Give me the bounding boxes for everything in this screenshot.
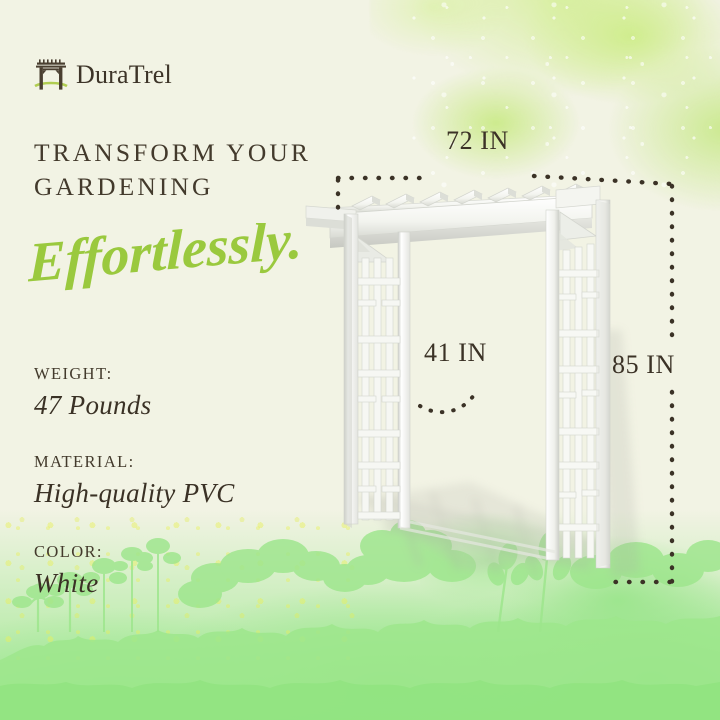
infographic-canvas: DuraTrel TRANSFORM YOUR GARDENING Effort… bbox=[0, 0, 720, 720]
right-post bbox=[546, 200, 610, 568]
dimension-label-depth: 41 IN bbox=[424, 338, 487, 368]
dimension-arc-depth bbox=[420, 392, 476, 412]
dimension-line-width-right bbox=[534, 176, 672, 184]
left-post bbox=[344, 214, 410, 528]
dimension-label-width: 72 IN bbox=[446, 126, 509, 156]
right-lattice-panel bbox=[559, 244, 599, 558]
dimension-label-height: 85 IN bbox=[612, 350, 675, 380]
left-lattice-panel bbox=[358, 258, 400, 520]
right-rear-beam bbox=[556, 186, 600, 208]
